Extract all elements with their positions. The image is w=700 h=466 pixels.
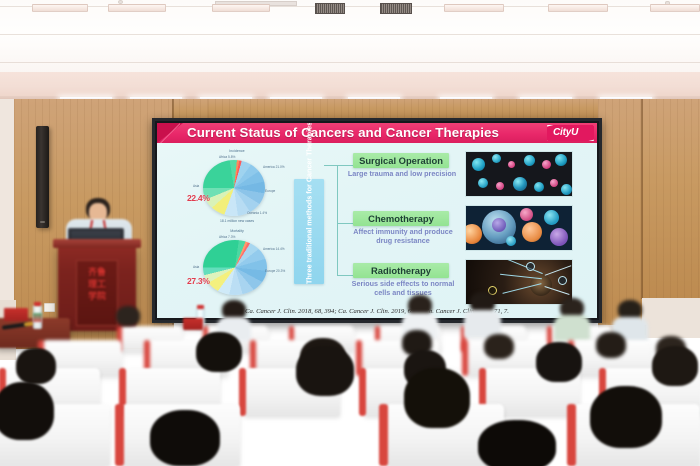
micrograph-virus-cells: [465, 151, 573, 197]
therapy-desc-radio: Serious side effects to normal cells and…: [345, 280, 461, 297]
bottle-label: [33, 313, 42, 322]
therapy-title-surgical: Surgical Operation: [353, 153, 449, 168]
mortality-pie-graphic: [203, 240, 267, 295]
speaker-indicator: [40, 221, 45, 223]
pie-slice-label: Europe 20.3%: [265, 269, 285, 273]
ceiling-seam: [0, 34, 700, 35]
wall-switch-plate[interactable]: [44, 303, 55, 312]
podium-front-panel: 齐鲁理工学院: [76, 260, 118, 326]
therapy-title-chemo: Chemotherapy: [353, 211, 449, 226]
pie-slice-label: Africa 5.8%: [219, 155, 235, 159]
pie-slice-label: America 21.0%: [263, 165, 285, 169]
projection-screen: Current Status of Cancers and Cancer The…: [152, 118, 602, 323]
podium-top-surface: [53, 239, 141, 248]
soffit-panel: [108, 4, 166, 12]
pie-slice-label: Asia: [193, 265, 199, 269]
connector-line: [337, 165, 338, 275]
wall-lower-right: [642, 298, 700, 338]
center-summary-box: Three traditional methods for Cancer The…: [294, 179, 324, 284]
incidence-highlight-pct: 22.4%: [187, 193, 210, 203]
therapy-desc-surgical: Large trauma and low precision: [347, 170, 457, 179]
air-vent-grille: [315, 3, 345, 14]
cityu-logo-text: CityU: [553, 127, 578, 138]
mortality-chart: Mortality 27.3% Africa 7.3% America 14.4…: [185, 229, 289, 309]
wall-seam: [641, 99, 643, 299]
soffit-panel: [444, 4, 504, 12]
incidence-subtitle: 18.1 million new cases: [185, 219, 289, 223]
therapy-desc-chemo: Affect immunity and produce drug resista…: [345, 228, 461, 245]
podium-institution-name: 齐鲁理工学院: [87, 267, 107, 303]
center-summary-text: Three traditional methods for Cancer The…: [305, 180, 314, 284]
therapy-title-radio: Radiotherapy: [353, 263, 449, 278]
mortality-chart-title: Mortality: [185, 229, 289, 233]
incidence-chart-title: Incidence: [185, 149, 289, 153]
wall-speaker: [36, 126, 49, 228]
soffit-panel: [548, 4, 608, 12]
pie-slice-label: America 14.4%: [263, 247, 285, 251]
air-vent-grille: [380, 3, 412, 14]
wood-wall-right-far: [642, 99, 700, 299]
micrograph-immune-cells: [465, 205, 573, 251]
pie-slice-label: Africa 7.3%: [219, 235, 235, 239]
bottle-cap: [34, 302, 41, 306]
slide-content: Current Status of Cancers and Cancer The…: [157, 123, 597, 318]
pie-slice-label: Oceania 1.4%: [247, 211, 267, 215]
mortality-highlight-pct: 27.3%: [187, 276, 210, 286]
soffit-panel: [212, 4, 270, 12]
ceiling-seam: [0, 62, 700, 63]
connector-line: [337, 223, 353, 224]
bottle-cap: [197, 305, 204, 309]
lecture-hall-scene: Current Status of Cancers and Cancer The…: [0, 0, 700, 466]
pie-slice-label: Europe: [265, 189, 275, 193]
slide-title: Current Status of Cancers and Cancer The…: [187, 125, 499, 140]
table-red-box: [4, 308, 28, 321]
connector-line: [337, 165, 353, 166]
soffit-panel: [650, 4, 700, 12]
incidence-pie-graphic: [203, 160, 265, 216]
cityu-logo: CityU: [547, 125, 594, 141]
connector-line: [337, 275, 353, 276]
incidence-chart: Incidence 22.4% 18.1 million new cases A…: [185, 149, 289, 229]
ceiling-soffit: [0, 72, 700, 98]
soffit-panel: [32, 4, 88, 12]
table-red-box: [183, 318, 203, 330]
connector-line: [324, 165, 338, 166]
pie-slice-label: Asia: [193, 184, 199, 188]
